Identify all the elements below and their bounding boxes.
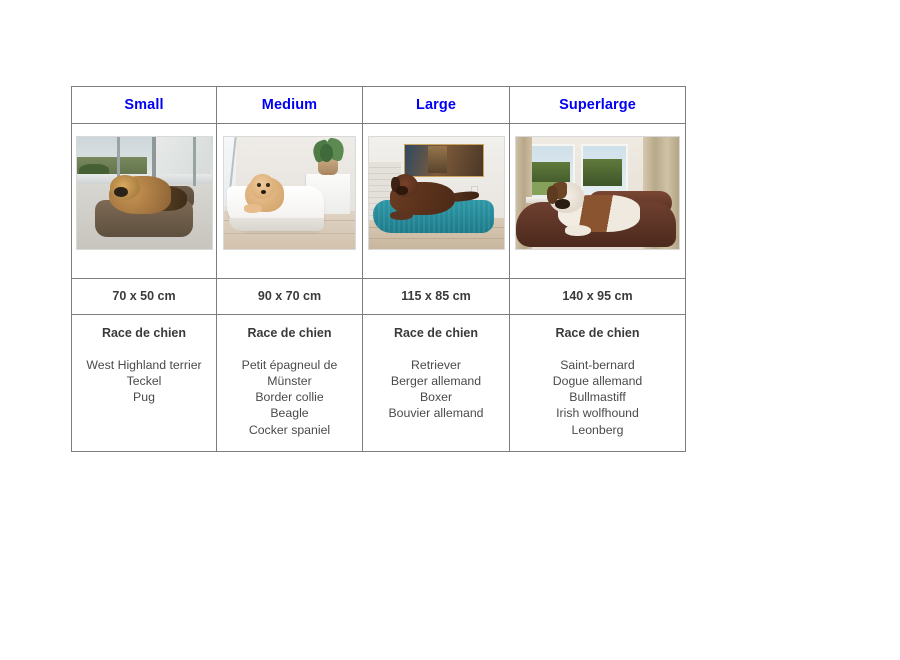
breeds-cell-superlarge: Race de chien Saint-bernardDogue alleman… (510, 315, 686, 452)
breed-item: Irish wolfhound (510, 405, 685, 421)
dimensions-label: 115 x 85 cm (363, 290, 509, 303)
dimensions-label: 70 x 50 cm (72, 290, 216, 303)
photo-cell-small (72, 124, 217, 279)
breed-item: Petit épagneul de Münster (217, 357, 362, 389)
header-cell-large: Large (363, 87, 510, 124)
dog-bed-size-table: Small Medium Large Superlarge (71, 86, 686, 452)
breeds-cell-medium: Race de chien Petit épagneul de MünsterB… (217, 315, 363, 452)
medium-dog-bed-photo (224, 137, 355, 249)
dimensions-cell-small: 70 x 50 cm (72, 279, 217, 315)
dimensions-label: 90 x 70 cm (217, 290, 362, 303)
breed-item: Bullmastiff (510, 389, 685, 405)
header-cell-medium: Medium (217, 87, 363, 124)
size-header-label: Small (72, 98, 216, 113)
small-dog-bed-photo (77, 137, 212, 249)
table-dimensions-row: 70 x 50 cm 90 x 70 cm 115 x 85 cm 140 x … (72, 279, 686, 315)
breeds-list: Petit épagneul de MünsterBorder collieBe… (217, 357, 362, 438)
breed-item: Bouvier allemand (363, 405, 509, 421)
breeds-title: Race de chien (217, 327, 362, 341)
table-breeds-row: Race de chien West Highland terrierTecke… (72, 315, 686, 452)
photo-frame (76, 136, 213, 250)
photo-cell-medium (217, 124, 363, 279)
breeds-title: Race de chien (363, 327, 509, 341)
breeds-list: West Highland terrierTeckelPug (72, 357, 216, 406)
size-header-label: Medium (217, 98, 362, 113)
table-header-row: Small Medium Large Superlarge (72, 87, 686, 124)
header-cell-superlarge: Superlarge (510, 87, 686, 124)
large-dog-bed-photo (369, 137, 504, 249)
breeds-cell-small: Race de chien West Highland terrierTecke… (72, 315, 217, 452)
breeds-title: Race de chien (510, 327, 685, 341)
breed-item: Cocker spaniel (217, 422, 362, 438)
header-cell-small: Small (72, 87, 217, 124)
breed-item: Beagle (217, 405, 362, 421)
breed-item: Pug (72, 389, 216, 405)
size-header-label: Large (363, 98, 509, 113)
dimensions-cell-superlarge: 140 x 95 cm (510, 279, 686, 315)
breeds-title: Race de chien (72, 327, 216, 341)
photo-frame (515, 136, 680, 250)
dimensions-cell-medium: 90 x 70 cm (217, 279, 363, 315)
breed-item: Leonberg (510, 422, 685, 438)
breed-item: Boxer (363, 389, 509, 405)
photo-cell-large (363, 124, 510, 279)
breed-item: Teckel (72, 373, 216, 389)
breed-item: Saint-bernard (510, 357, 685, 373)
breed-item: Dogue allemand (510, 373, 685, 389)
photo-frame (368, 136, 505, 250)
breeds-list: Saint-bernardDogue allemandBullmastiffIr… (510, 357, 685, 438)
dimensions-label: 140 x 95 cm (510, 290, 685, 303)
breeds-list: RetrieverBerger allemandBoxerBouvier all… (363, 357, 509, 422)
breed-item: West Highland terrier (72, 357, 216, 373)
size-header-label: Superlarge (510, 98, 685, 113)
breed-item: Retriever (363, 357, 509, 373)
breeds-cell-large: Race de chien RetrieverBerger allemandBo… (363, 315, 510, 452)
dimensions-cell-large: 115 x 85 cm (363, 279, 510, 315)
breed-item: Border collie (217, 389, 362, 405)
table-photo-row (72, 124, 686, 279)
photo-cell-superlarge (510, 124, 686, 279)
superlarge-dog-bed-photo (516, 137, 679, 249)
breed-item: Berger allemand (363, 373, 509, 389)
photo-frame (223, 136, 356, 250)
